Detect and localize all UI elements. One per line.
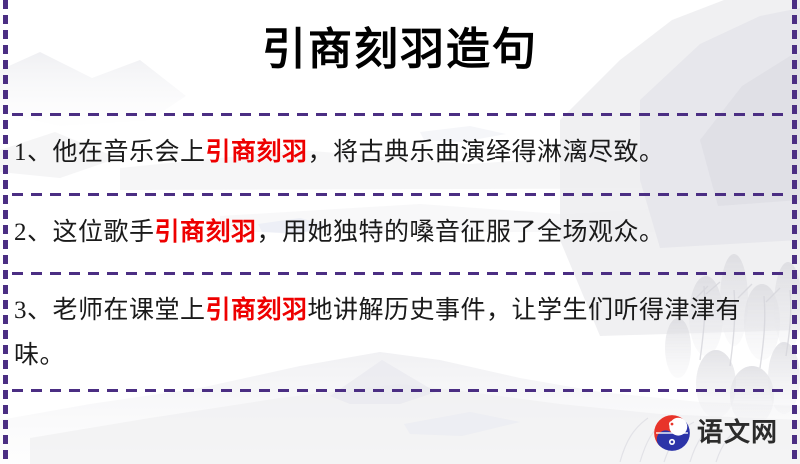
sentence-item-3: 3、老师在课堂上引商刻羽地讲解历史事件，让学生们听得津津有味。	[14, 288, 780, 378]
highlighted-idiom-1: 引商刻羽	[206, 139, 308, 166]
divider-rule-1	[12, 113, 788, 116]
sentence-text-after-1: ，将古典乐曲演绎得淋漓尽致。	[308, 139, 665, 166]
right-dashed-border	[792, 0, 797, 464]
page-title: 引商刻羽造句	[0, 22, 800, 78]
sentence-text-after-2: ，用她独特的嗓音征服了全场观众。	[257, 219, 665, 246]
sentence-item-1: 1、他在音乐会上引商刻羽，将古典乐曲演绎得淋漓尽致。	[14, 130, 780, 175]
left-dashed-border	[3, 0, 8, 464]
divider-rule-2	[12, 193, 788, 196]
divider-rule-3	[12, 272, 788, 275]
sentence-number-1: 1、	[14, 139, 53, 166]
highlighted-idiom-2: 引商刻羽	[155, 219, 257, 246]
sentence-text-before-3: 老师在课堂上	[53, 297, 206, 324]
sentence-item-2: 2、这位歌手引商刻羽，用她独特的嗓音征服了全场观众。	[14, 210, 780, 255]
sentence-text-before-2: 这位歌手	[53, 219, 155, 246]
sentence-number-2: 2、	[14, 219, 53, 246]
site-logo-text: 语文网	[697, 419, 778, 447]
sentence-number-3: 3、	[14, 297, 53, 324]
highlighted-idiom-3: 引商刻羽	[206, 297, 308, 324]
sentence-card-page: 引商刻羽造句 1、他在音乐会上引商刻羽，将古典乐曲演绎得淋漓尽致。 2、这位歌手…	[0, 0, 800, 464]
sentence-text-before-1: 他在音乐会上	[53, 139, 206, 166]
taiji-yinyang-icon	[653, 414, 691, 452]
content-area: 引商刻羽造句 1、他在音乐会上引商刻羽，将古典乐曲演绎得淋漓尽致。 2、这位歌手…	[0, 0, 800, 464]
site-logo[interactable]: 语文网	[653, 414, 778, 452]
divider-rule-4	[12, 389, 788, 392]
